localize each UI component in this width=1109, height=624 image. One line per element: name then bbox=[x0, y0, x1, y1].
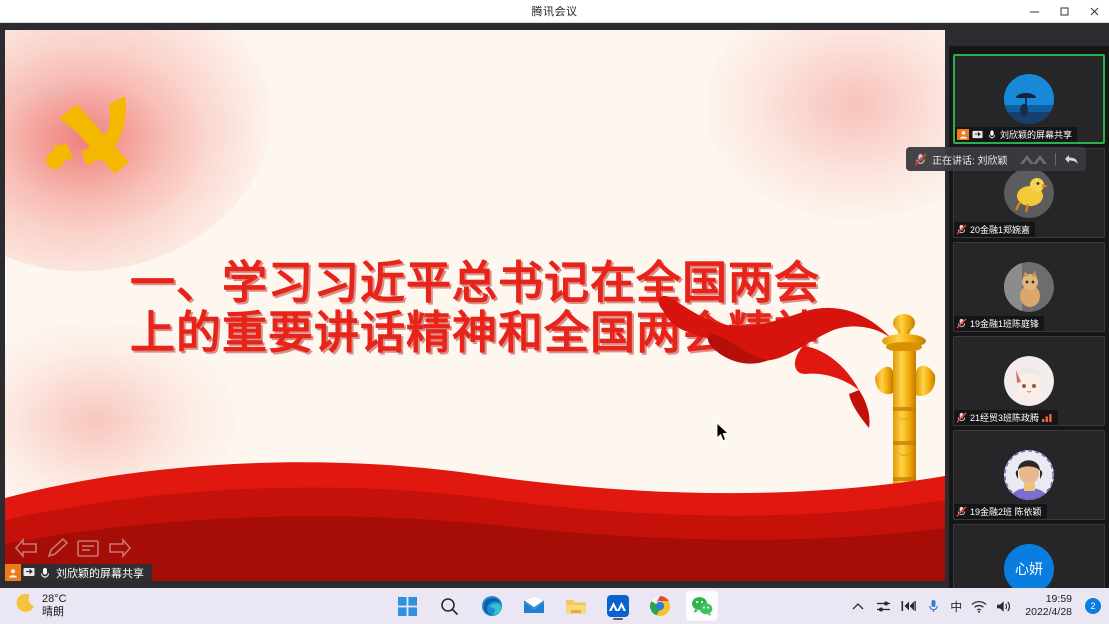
search-icon bbox=[440, 597, 459, 616]
speaking-label: 正在讲话: 刘欣颖 bbox=[930, 152, 1017, 167]
participant-label: 19金融1班陈庭锋 bbox=[954, 316, 1044, 331]
chrome-button[interactable] bbox=[644, 591, 676, 621]
weather-temperature: 28°C bbox=[42, 593, 67, 606]
microphone-muted-icon bbox=[956, 506, 967, 517]
moon-icon bbox=[14, 593, 36, 620]
share-owner-bar: 刘欣颖的屏幕共享 bbox=[5, 564, 152, 581]
signal-strength-icon bbox=[1042, 412, 1053, 423]
mail-icon bbox=[523, 596, 545, 616]
participant-label: 19金融2班 陈依颖 bbox=[954, 504, 1047, 519]
participant-name: 19金融2班 陈依颖 bbox=[970, 505, 1042, 518]
weather-condition: 晴朗 bbox=[42, 606, 67, 619]
previous-slide-icon[interactable] bbox=[13, 537, 39, 559]
wechat-button[interactable] bbox=[686, 591, 718, 621]
pen-icon[interactable] bbox=[45, 537, 69, 559]
system-tray: 中 19:59 2022/4/28 2 bbox=[850, 593, 1101, 618]
taskbar-apps bbox=[392, 591, 718, 621]
participant-name: 刘欣颖的屏幕共享 bbox=[1000, 128, 1072, 141]
tencent-meeting-button[interactable] bbox=[602, 591, 634, 621]
host-badge-icon bbox=[957, 129, 969, 140]
window-controls bbox=[1019, 0, 1109, 23]
avatar bbox=[1004, 168, 1054, 218]
tencent-meeting-window: 腾讯会议 bbox=[0, 0, 1109, 624]
notification-badge[interactable]: 2 bbox=[1085, 598, 1101, 614]
participant-tile[interactable]: 21经贸3班陈政腾 bbox=[953, 336, 1105, 426]
close-icon bbox=[1089, 6, 1100, 17]
participant-label: 刘欣颖的屏幕共享 bbox=[955, 127, 1077, 142]
close-button[interactable] bbox=[1079, 0, 1109, 23]
avatar: 心妍 bbox=[1004, 544, 1054, 594]
weather-widget[interactable]: 28°C 晴朗 bbox=[14, 593, 67, 620]
mail-button[interactable] bbox=[518, 591, 550, 621]
ime-indicator[interactable]: 中 bbox=[950, 598, 962, 615]
return-to-meeting-button[interactable] bbox=[1060, 153, 1082, 166]
screen-share-icon bbox=[972, 129, 983, 140]
chevron-up-icon[interactable] bbox=[850, 598, 866, 614]
file-explorer-button[interactable] bbox=[560, 591, 592, 621]
avatar-initials: 心妍 bbox=[1015, 559, 1043, 579]
edge-button[interactable] bbox=[476, 591, 508, 621]
microphone-muted-icon bbox=[956, 318, 967, 329]
share-owner-label: 刘欣颖的屏幕共享 bbox=[53, 565, 144, 581]
toast-separator bbox=[1055, 153, 1056, 166]
minimize-button[interactable] bbox=[1019, 0, 1049, 23]
ppt-presenter-controls bbox=[13, 537, 133, 559]
participant-name: 19金融1班陈庭锋 bbox=[970, 317, 1039, 330]
running-indicator bbox=[613, 618, 623, 620]
start-button[interactable] bbox=[392, 591, 424, 621]
decorative-blob-top-right bbox=[705, 30, 945, 220]
avatar bbox=[1004, 74, 1054, 124]
edge-icon bbox=[481, 595, 503, 617]
cloud-icon bbox=[17, 86, 30, 97]
speaking-toast[interactable]: 正在讲话: 刘欣颖 bbox=[906, 147, 1086, 171]
taskbar: 28°C 晴朗 bbox=[0, 588, 1109, 624]
participant-strip[interactable]: 刘欣颖的屏幕共享 bbox=[949, 46, 1109, 611]
participant-label: 21经贸3班陈政腾 bbox=[954, 410, 1058, 425]
chrome-icon bbox=[649, 595, 671, 617]
wechat-icon bbox=[691, 596, 713, 616]
presentation-slide[interactable]: 录制中 一、学习习近平总书记在全国两会 上的重要讲话精神和全国两会精神 bbox=[5, 30, 945, 581]
participant-tile[interactable]: 19金融1班陈庭锋 bbox=[953, 242, 1105, 332]
mouse-cursor bbox=[716, 422, 730, 447]
avatar bbox=[1004, 262, 1054, 312]
participant-label: 20金融1郑婉嘉 bbox=[954, 222, 1035, 237]
clock[interactable]: 19:59 2022/4/28 bbox=[1025, 593, 1072, 618]
menu-icon[interactable] bbox=[75, 537, 101, 559]
microphone-muted-icon bbox=[956, 412, 967, 423]
windows-icon bbox=[398, 597, 417, 616]
host-badge-icon bbox=[5, 564, 21, 581]
wifi-icon[interactable] bbox=[971, 598, 987, 614]
microphone-icon bbox=[37, 567, 53, 579]
media-controls-icon[interactable] bbox=[900, 598, 916, 614]
window-title: 腾讯会议 bbox=[532, 3, 578, 19]
next-slide-icon[interactable] bbox=[107, 537, 133, 559]
participant-tile[interactable]: 刘欣颖的屏幕共享 bbox=[953, 54, 1105, 144]
clock-time: 19:59 bbox=[1046, 593, 1072, 606]
folder-icon bbox=[565, 597, 587, 616]
tencent-meeting-icon bbox=[607, 595, 629, 617]
shared-screen-stage: 录制中 一、学习习近平总书记在全国两会 上的重要讲话精神和全国两会精神 bbox=[0, 23, 1109, 588]
microphone-icon bbox=[986, 129, 997, 140]
participant-name: 20金融1郑婉嘉 bbox=[970, 223, 1030, 236]
red-wave-decoration bbox=[5, 446, 945, 581]
speaker-icon[interactable] bbox=[996, 598, 1012, 614]
recording-indicator: 录制中 bbox=[17, 83, 68, 99]
search-button[interactable] bbox=[434, 591, 466, 621]
clock-date: 2022/4/28 bbox=[1025, 606, 1072, 619]
maximize-icon bbox=[1059, 6, 1070, 17]
microphone-muted-icon[interactable] bbox=[910, 153, 930, 166]
maximize-button[interactable] bbox=[1049, 0, 1079, 23]
tencent-meeting-logo-icon bbox=[1017, 153, 1051, 166]
avatar bbox=[1004, 356, 1054, 406]
minimize-icon bbox=[1029, 6, 1040, 17]
sliders-icon[interactable] bbox=[875, 598, 891, 614]
participant-tile[interactable]: 19金融2班 陈依颖 bbox=[953, 430, 1105, 520]
recording-label: 录制中 bbox=[35, 83, 68, 99]
microphone-muted-icon bbox=[956, 224, 967, 235]
microphone-icon[interactable] bbox=[925, 598, 941, 614]
participant-name: 21经贸3班陈政腾 bbox=[970, 411, 1039, 424]
screen-share-icon bbox=[21, 567, 37, 578]
avatar bbox=[1004, 450, 1054, 500]
titlebar: 腾讯会议 bbox=[0, 0, 1109, 23]
